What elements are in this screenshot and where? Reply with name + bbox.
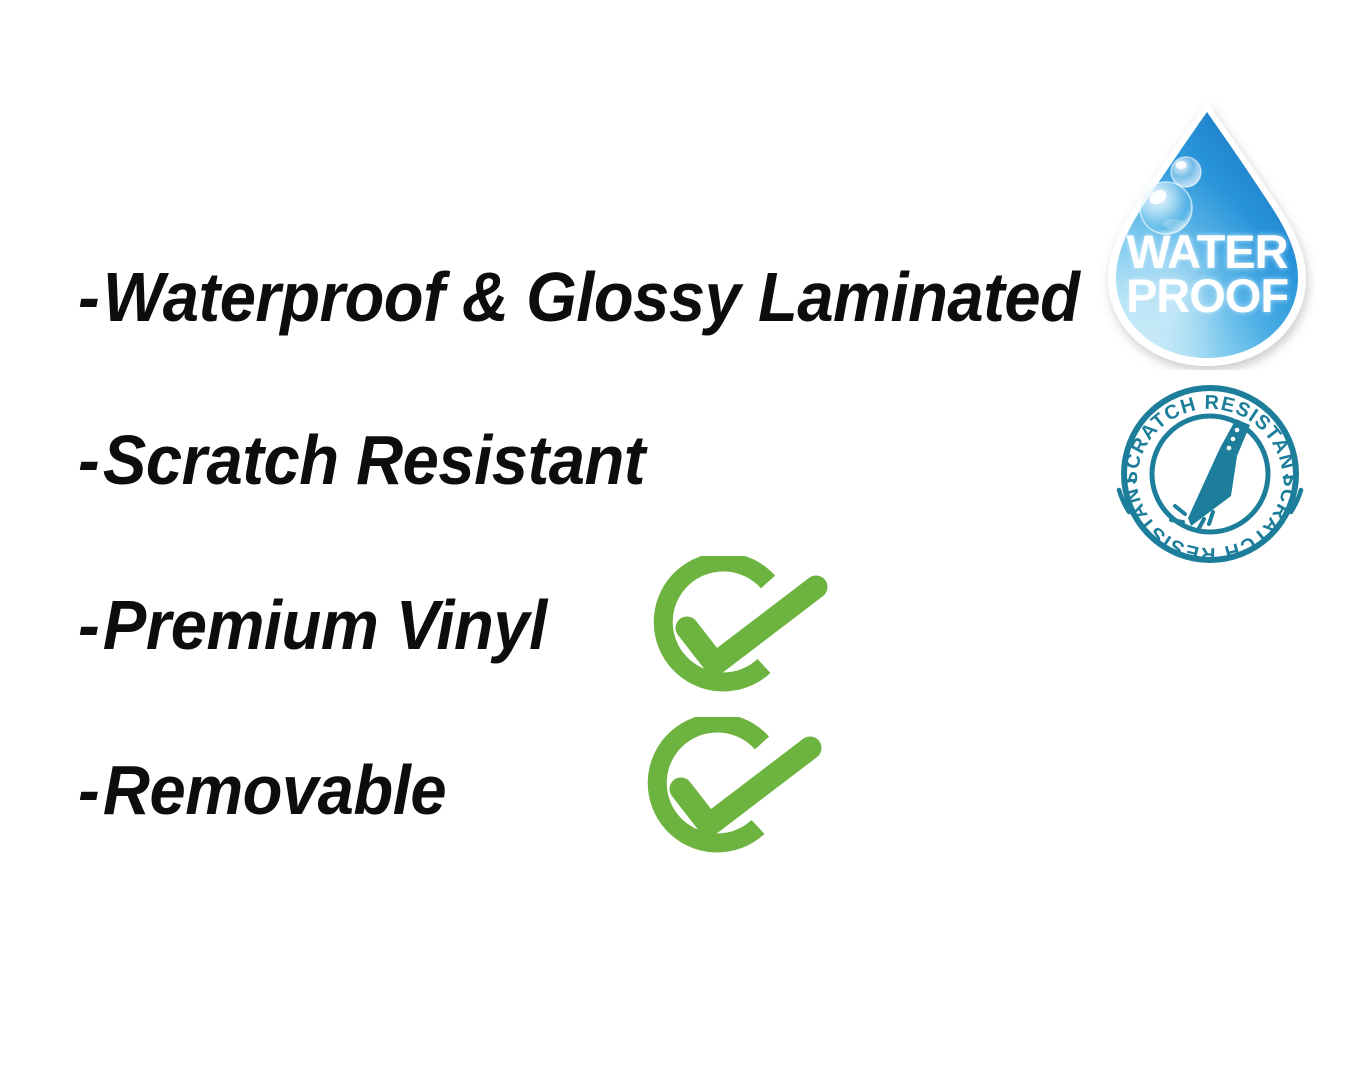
scratch-resistant-icon: SCRATCH RESISTANT SCRATCH RESISTANT bbox=[1105, 378, 1315, 566]
waterproof-droplet-icon bbox=[1098, 98, 1316, 370]
page-canvas: -Waterproof & Glossy Laminated -Scratch … bbox=[0, 0, 1359, 1080]
feature-label-1: Scratch Resistant bbox=[103, 421, 645, 499]
scratch-resistant-stamp-badge: SCRATCH RESISTANT SCRATCH RESISTANT bbox=[1105, 378, 1315, 566]
feature-dash-0: - bbox=[78, 258, 99, 336]
feature-label-0: Waterproof & Glossy Laminated bbox=[103, 258, 1079, 336]
feature-item-premium-vinyl: -Premium Vinyl bbox=[78, 590, 547, 660]
check-circle-icon bbox=[630, 717, 830, 872]
check-circle-icon bbox=[636, 556, 836, 711]
feature-label-3: Removable bbox=[103, 751, 446, 829]
knife-icon bbox=[1188, 419, 1250, 526]
feature-dash-3: - bbox=[78, 751, 99, 829]
check-tick bbox=[687, 587, 816, 664]
droplet-bubble-large bbox=[1140, 182, 1192, 234]
check-circle-premium-vinyl bbox=[636, 556, 836, 711]
waterproof-droplet-badge: WATER PROOF bbox=[1098, 98, 1316, 370]
feature-dash-1: - bbox=[78, 421, 99, 499]
check-tick bbox=[681, 748, 810, 825]
check-circle-removable bbox=[630, 717, 830, 872]
feature-item-removable: -Removable bbox=[78, 755, 446, 825]
feature-label-2: Premium Vinyl bbox=[103, 586, 547, 664]
feature-item-scratch-resistant: -Scratch Resistant bbox=[78, 425, 645, 495]
droplet-bubble-small bbox=[1171, 157, 1201, 187]
droplet-gloss bbox=[1116, 112, 1298, 358]
feature-item-waterproof-glossy-laminated: -Waterproof & Glossy Laminated bbox=[78, 262, 1079, 332]
feature-dash-2: - bbox=[78, 586, 99, 664]
